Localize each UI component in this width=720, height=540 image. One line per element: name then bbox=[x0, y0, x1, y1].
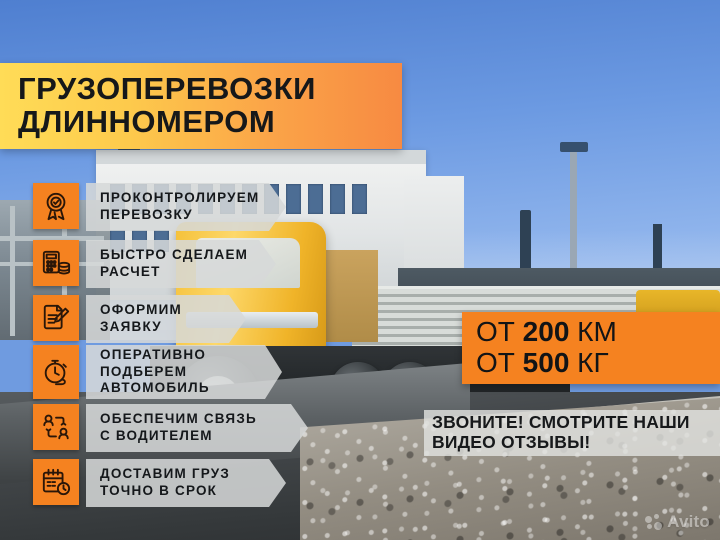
feature-item-quick-calculation[interactable]: БЫСТРО СДЕЛАЕМ РАСЧЕТ bbox=[33, 240, 276, 288]
feature-label: ПРОКОНТРОЛИРУЕМ ПЕРЕВОЗКУ bbox=[86, 183, 286, 231]
window bbox=[330, 184, 345, 214]
feature-text: ОФОРМИМ ЗАЯВКУ bbox=[100, 302, 182, 336]
feature-item-control-shipment[interactable]: ПРОКОНТРОЛИРУЕМ ПЕРЕВОЗКУ bbox=[33, 183, 286, 231]
two-people-exchange-icon bbox=[33, 404, 79, 450]
feature-label: ОФОРМИМ ЗАЯВКУ bbox=[86, 295, 246, 343]
page-title-line-1: ГРУЗОПЕРЕВОЗКИ bbox=[18, 73, 402, 106]
window bbox=[286, 184, 301, 214]
avito-watermark: Avito bbox=[645, 512, 710, 532]
price-unit: КГ bbox=[569, 347, 608, 378]
feature-text: ОБЕСПЕЧИМ СВЯЗЬ С ВОДИТЕЛЕМ bbox=[100, 411, 257, 445]
feature-label: БЫСТРО СДЕЛАЕМ РАСЧЕТ bbox=[86, 240, 276, 288]
cta-line-2: ВИДЕО ОТЗЫВЫ! bbox=[432, 433, 720, 453]
feature-item-process-request[interactable]: ОФОРМИМ ЗАЯВКУ bbox=[33, 295, 246, 343]
award-badge-icon bbox=[33, 183, 79, 229]
price-prefix: ОТ bbox=[476, 347, 523, 378]
light-mast-head bbox=[560, 142, 588, 152]
price-line-distance: ОТ 200 КМ bbox=[476, 317, 720, 348]
price-conditions-block: ОТ 200 КМ ОТ 500 КГ bbox=[462, 312, 720, 384]
price-unit: КМ bbox=[569, 316, 616, 347]
calculator-coins-icon bbox=[33, 240, 79, 286]
stopwatch-hand-icon bbox=[33, 345, 79, 399]
window bbox=[308, 184, 323, 214]
price-prefix: ОТ bbox=[476, 316, 523, 347]
calendar-clock-icon bbox=[33, 459, 79, 505]
cargo-body bbox=[318, 250, 378, 342]
price-line-weight: ОТ 500 КГ bbox=[476, 348, 720, 379]
feature-label: ОБЕСПЕЧИМ СВЯЗЬ С ВОДИТЕЛЕМ bbox=[86, 404, 308, 452]
feature-text: ДОСТАВИМ ГРУЗ ТОЧНО В СРОК bbox=[100, 466, 230, 500]
pipe bbox=[10, 206, 15, 336]
feature-label: ОПЕРАТИВНО ПОДБЕРЕМ АВТОМОБИЛЬ bbox=[86, 345, 282, 399]
feature-item-on-time-delivery[interactable]: ДОСТАВИМ ГРУЗ ТОЧНО В СРОК bbox=[33, 459, 286, 507]
cta-line-1: ЗВОНИТЕ! СМОТРИТЕ НАШИ bbox=[432, 413, 720, 433]
price-value: 200 bbox=[523, 316, 570, 347]
price-value: 500 bbox=[523, 347, 570, 378]
feature-text: ПРОКОНТРОЛИРУЕМ ПЕРЕВОЗКУ bbox=[100, 190, 259, 224]
feature-text: ОПЕРАТИВНО ПОДБЕРЕМ АВТОМОБИЛЬ bbox=[100, 347, 210, 398]
title-banner: ГРУЗОПЕРЕВОЗКИ ДЛИННОМЕРОМ bbox=[0, 63, 402, 149]
chimney-stack-left bbox=[520, 210, 531, 274]
advertisement-image: ГРУЗОПЕРЕВОЗКИ ДЛИННОМЕРОМ ПРОКОНТРОЛИРУ… bbox=[0, 0, 720, 540]
light-mast-tall bbox=[570, 150, 577, 286]
avito-watermark-label: Avito bbox=[667, 512, 710, 532]
avito-logo-icon bbox=[645, 514, 662, 531]
feature-item-driver-contact[interactable]: ОБЕСПЕЧИМ СВЯЗЬ С ВОДИТЕЛЕМ bbox=[33, 404, 308, 452]
feature-label: ДОСТАВИМ ГРУЗ ТОЧНО В СРОК bbox=[86, 459, 286, 507]
feature-text: БЫСТРО СДЕЛАЕМ РАСЧЕТ bbox=[100, 247, 248, 281]
call-to-action-block: ЗВОНИТЕ! СМОТРИТЕ НАШИ ВИДЕО ОТЗЫВЫ! bbox=[424, 410, 720, 456]
document-pen-icon bbox=[33, 295, 79, 341]
page-title-line-2: ДЛИННОМЕРОМ bbox=[18, 106, 402, 139]
window bbox=[352, 184, 367, 214]
feature-item-select-vehicle[interactable]: ОПЕРАТИВНО ПОДБЕРЕМ АВТОМОБИЛЬ bbox=[33, 345, 282, 403]
